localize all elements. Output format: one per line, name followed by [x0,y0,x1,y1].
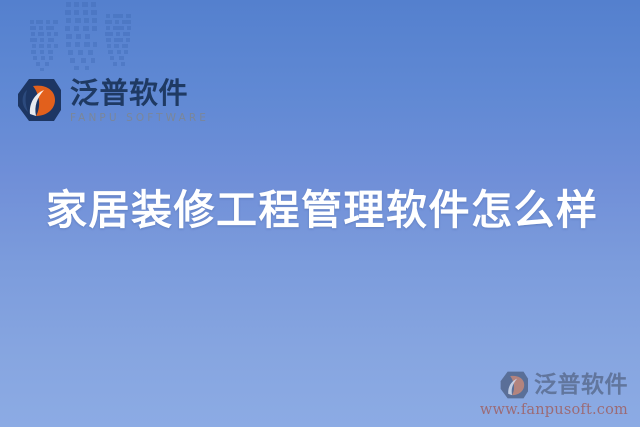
mosaic-tiles [30,2,131,71]
page-title: 家居装修工程管理软件怎么样 [46,185,599,236]
brand-logo: 泛普软件 FANPU SOFTWARE [16,78,209,123]
brand-name-en: FANPU SOFTWARE [70,113,209,124]
watermark: 泛普软件 www.fanpusoft.com [480,371,628,418]
poster-canvas: 泛普软件 FANPU SOFTWARE 家居装修工程管理软件怎么样 泛普软件 w… [0,0,640,427]
fanpu-hexagon-logo-mark [499,371,529,399]
pixel-mosaic-decoration [0,0,170,80]
watermark-url: www.fanpusoft.com [480,402,628,418]
fanpu-hexagon-logo-mark [16,78,62,122]
brand-name-cn: 泛普软件 [70,79,209,109]
watermark-brand-name: 泛普软件 [534,374,628,397]
watermark-logo-row: 泛普软件 [480,371,628,399]
brand-text-block: 泛普软件 FANPU SOFTWARE [70,78,209,123]
